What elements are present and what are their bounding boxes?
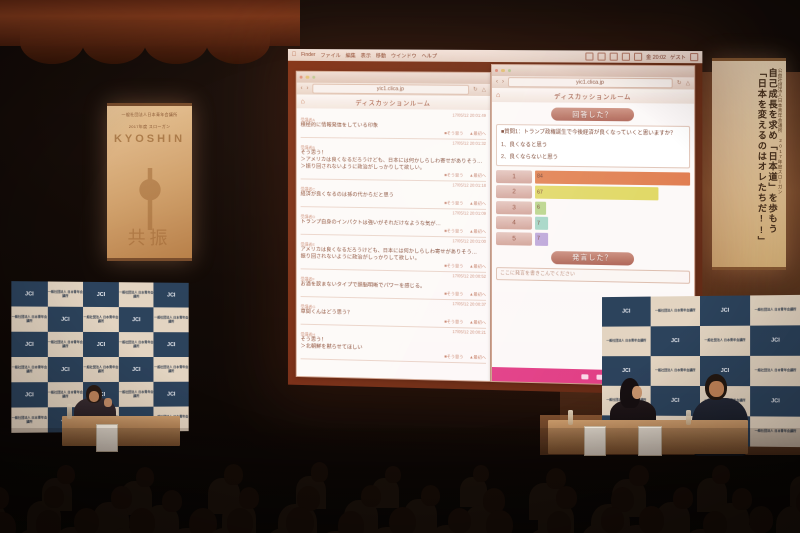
poll-bar-fill: 6	[535, 201, 546, 214]
banner-left-top: 一般社団法人日本青年会議所	[107, 106, 192, 118]
maximize-icon[interactable]	[312, 76, 315, 79]
discussion-post[interactable]: 17/05/12 20:01:18受講者C経済が良くなるのは孫の代からだと思う■…	[301, 179, 486, 209]
poll-bar-track: 84	[535, 170, 690, 185]
post-agree-button[interactable]: ■そう思う	[444, 200, 463, 206]
banner-right-org: 公益社団法人日本青年会議所 2017年度スローガン	[777, 68, 782, 260]
screenshot-root: 一般社団法人日本青年会議所 2017年度 スローガン KYOSHIN 共振 公益…	[0, 0, 800, 533]
poll-bar-row[interactable]: 267	[496, 185, 690, 201]
banner-right-line1: 自己成長を求め「日本道」を歩もう	[766, 68, 776, 260]
airplay-icon[interactable]	[622, 53, 630, 61]
speaker-face	[89, 391, 99, 402]
panelist-female-face	[632, 386, 642, 399]
audience-member-head	[239, 487, 259, 509]
post-reply-button[interactable]: ▲最初へ	[469, 319, 486, 325]
discussion-post[interactable]: 17/05/12 20:01:00受講者Eアメリカは良くなるだろうけども、日本に…	[301, 235, 486, 273]
audience-member-head	[483, 488, 505, 512]
post-agree-button[interactable]: ■そう思う	[444, 354, 463, 360]
poll-bar-value: 7	[535, 220, 540, 226]
jci-logo-tile: JCI	[154, 282, 189, 307]
poll-bar-label: 1	[496, 170, 532, 183]
jci-text-tile: 一般社団法人 日本青年会議所	[651, 356, 700, 386]
water-bottle	[686, 410, 691, 425]
discussion-list[interactable]: 17/05/12 20:01:49受講者A積極的に情報発信をしている印象■そう思…	[297, 108, 490, 381]
banner-left-emblem	[125, 168, 175, 230]
audience-member-head	[338, 511, 364, 533]
camera-icon[interactable]	[581, 374, 588, 379]
back-icon[interactable]: ‹	[496, 79, 498, 85]
audience	[0, 428, 800, 533]
post-agree-button[interactable]: ■そう思う	[444, 131, 463, 137]
battery-icon[interactable]	[597, 53, 605, 61]
banner-right-line2: 「日本を変えるのはオレたちだ!!」	[756, 68, 766, 260]
audience-member-head	[311, 462, 328, 481]
poll-bar-label: 2	[496, 185, 532, 199]
poll-option-2[interactable]: 2、良くならないと思う	[501, 153, 685, 163]
poll-bar-value: 6	[535, 205, 540, 211]
audience-member-head	[673, 487, 693, 509]
audience-member-head	[111, 486, 132, 509]
audience-member-head	[629, 465, 649, 487]
discussion-post[interactable]: 17/05/12 20:01:32受講者Bそう思う！＞アメリカは良くなるだろうけ…	[301, 138, 486, 182]
jci-logo-tile: JCI	[750, 386, 800, 417]
post-agree-button[interactable]: ■そう思う	[444, 263, 463, 269]
menubar-item-go[interactable]: 移動	[376, 52, 386, 59]
jci-text-tile: 一般社団法人 日本青年会議所	[750, 356, 800, 386]
poll-bar-label: 5	[496, 232, 532, 246]
audience-member-head	[639, 506, 665, 533]
jci-logo-tile: JCI	[11, 382, 47, 407]
post-agree-button[interactable]: ■そう思う	[444, 291, 463, 297]
minimize-icon[interactable]	[306, 76, 309, 79]
close-icon[interactable]	[495, 69, 498, 72]
answered-pill[interactable]: 回答した？	[551, 108, 634, 122]
jci-text-tile: 一般社団法人 日本青年会議所	[119, 332, 154, 357]
menubar-item-view[interactable]: 表示	[361, 52, 371, 59]
jci-text-tile: 一般社団法人 日本青年会議所	[750, 295, 800, 326]
jci-text-tile: 一般社団法人 日本青年会議所	[11, 306, 47, 331]
audience-member-head	[712, 465, 730, 485]
jci-logo-tile: JCI	[154, 382, 189, 407]
audience-member-head	[361, 485, 381, 507]
poll-bar-fill: 7	[535, 217, 548, 230]
jci-logo-tile: JCI	[119, 307, 154, 332]
input-source-icon[interactable]	[634, 53, 642, 61]
jci-logo-tile: JCI	[11, 281, 47, 307]
menubar-item-finder[interactable]: Finder	[301, 52, 315, 58]
audience-member-head	[473, 465, 489, 482]
poll-bar-value: 7	[535, 236, 540, 242]
close-icon[interactable]	[300, 75, 303, 78]
poll-option-1[interactable]: 1、良くなると思う	[501, 141, 685, 151]
menubar-item-help[interactable]: ヘルプ	[422, 52, 437, 59]
post-reply-button[interactable]: ▲最初へ	[469, 173, 486, 179]
forward-icon[interactable]: ›	[502, 79, 504, 85]
jci-logo-tile: JCI	[119, 357, 154, 382]
reload-icon[interactable]: ↻	[677, 80, 682, 86]
jci-logo-tile: JCI	[700, 295, 750, 326]
audience-member-head	[601, 507, 624, 533]
maximize-icon[interactable]	[508, 69, 511, 72]
poll-bar-label: 4	[496, 216, 532, 230]
post-agree-button[interactable]: ■そう思う	[444, 172, 463, 178]
water-bottle	[67, 404, 72, 419]
right-page-title: ディスカッションルーム	[554, 91, 631, 101]
discussion-post[interactable]: 17/05/12 20:00:21受講者Hそう思う！＞北朝鮮を黙らせてほしい■そ…	[301, 325, 486, 364]
jci-logo-tile: JCI	[47, 307, 83, 332]
discussion-post[interactable]: 17/05/12 20:00:52受講者Fお酒を飲まないタイプで頭脳明晰でパワー…	[301, 269, 486, 301]
speaker-hand	[104, 398, 112, 407]
audience-member-head	[389, 507, 416, 533]
jci-text-tile: 一般社団法人 日本青年会議所	[83, 307, 118, 332]
wifi-icon[interactable]	[609, 53, 617, 61]
post-text: そう思う！＞アメリカは良くなるだろうけども、日本には何かしらしわ寄せがありそう……	[301, 150, 486, 173]
poll-bar-fill: 7	[535, 232, 548, 245]
audience-member-head	[421, 485, 440, 506]
left-page-title: ディスカッションルーム	[355, 97, 430, 107]
poll-bar-row[interactable]: 47	[496, 216, 690, 232]
poll-bar-track: 7	[535, 217, 690, 233]
audience-member-head	[227, 508, 253, 533]
audience-member-head	[136, 467, 154, 487]
menubar-clock[interactable]: 金 20:02	[646, 53, 666, 60]
audience-member-head	[224, 464, 243, 485]
jci-text-tile: 一般社団法人 日本青年会議所	[47, 332, 83, 357]
post-reply-button[interactable]: ▲最初へ	[469, 131, 486, 137]
audience-member-head	[547, 511, 571, 533]
jci-logo-tile: JCI	[651, 326, 700, 356]
address-bar-right[interactable]: yic1.clica.jp	[508, 77, 673, 88]
banner-left: 一般社団法人日本青年会議所 2017年度 スローガン KYOSHIN 共振	[107, 103, 192, 261]
audience-member-head	[703, 511, 727, 533]
jci-logo-tile: JCI	[154, 332, 189, 357]
menubar-user[interactable]: ゲスト	[670, 53, 686, 60]
jci-text-tile: 一般社団法人 日本青年会議所	[83, 357, 118, 382]
water-bottle	[568, 410, 573, 425]
forward-icon[interactable]: ›	[306, 86, 308, 92]
discussion-post[interactable]: 17/05/12 20:00:37受講者G草間くんはどう思う？■そう思う▲最初へ	[301, 297, 486, 329]
jci-text-tile: 一般社団法人 日本青年会議所	[154, 307, 189, 332]
address-bar-left[interactable]: yic1.clica.jp	[312, 84, 469, 95]
ceiling-drape	[0, 0, 300, 46]
audience-member-head	[749, 506, 773, 533]
menubar-item-edit[interactable]: 編集	[346, 52, 356, 59]
poll-question: ■質問1：トランプ政権誕生で今後経済が良くなっていくと思いますか？	[501, 129, 685, 138]
post-agree-button[interactable]: ■そう思う	[444, 319, 463, 325]
banner-left-romaji: KYOSHIN	[107, 133, 192, 145]
poll-bar-track: 7	[535, 232, 690, 248]
jci-text-tile: 一般社団法人 日本青年会議所	[602, 326, 651, 356]
poll-results-chart: 184267364757	[496, 170, 690, 248]
audience-member-head	[162, 490, 182, 512]
audience-member-head	[486, 510, 512, 533]
jci-logo-tile: JCI	[602, 297, 651, 327]
post-reply-button[interactable]: ▲最初へ	[469, 354, 486, 360]
discussion-post[interactable]: 17/05/12 20:01:49受講者A積極的に情報発信をしている印象■そう思…	[301, 110, 486, 140]
post-reply-button[interactable]: ▲最初へ	[469, 292, 486, 298]
jci-text-tile: 一般社団法人 日本青年会議所	[47, 281, 83, 306]
poll-bar-track: 6	[535, 201, 690, 216]
post-agree-button[interactable]: ■そう思う	[444, 228, 463, 234]
banner-left-kanji: 共振	[107, 224, 192, 250]
browser-window-left[interactable]: ‹ › yic1.clica.jp ↻ △ ⌂ ディスカッションルーム 17/0…	[296, 71, 491, 382]
poll-bar-value: 84	[535, 174, 543, 180]
macos-menubar:  Finder ファイル 編集 表示 移動 ウインドウ ヘルプ 金 20:02…	[288, 49, 702, 63]
audience-member-head	[44, 486, 64, 508]
discussion-post[interactable]: 17/05/12 20:01:09受講者Dトランプ自身のインパクトは強いがそれだ…	[301, 207, 486, 238]
audience-member-head	[556, 486, 577, 509]
banner-left-year: 2017年度 スローガン	[107, 118, 192, 130]
poll-bar-fill: 67	[535, 186, 658, 201]
back-icon[interactable]: ‹	[301, 86, 303, 92]
home-icon[interactable]: ⌂	[496, 92, 500, 99]
post-reply-button[interactable]: ▲最初へ	[469, 229, 486, 235]
poll-bar-fill: 84	[535, 170, 690, 185]
share-icon[interactable]: △	[482, 87, 486, 93]
audience-member-head	[732, 488, 752, 510]
search-icon[interactable]	[690, 53, 698, 61]
menubar-item-file[interactable]: ファイル	[320, 52, 340, 59]
jci-text-tile: 一般社団法人 日本青年会議所	[154, 357, 189, 382]
do-not-disturb-icon[interactable]	[585, 52, 593, 60]
audience-member-head	[74, 508, 99, 533]
share-icon[interactable]: △	[686, 80, 690, 86]
jci-text-tile: 一般社団法人 日本青年会議所	[119, 382, 154, 407]
jci-logo-tile: JCI	[83, 332, 118, 357]
reload-icon[interactable]: ↻	[473, 87, 478, 93]
banner-right-slogan: 公益社団法人日本青年会議所 2017年度スローガン 自己成長を求め「日本道」を歩…	[712, 58, 786, 270]
jci-logo-tile: JCI	[11, 332, 47, 357]
jci-text-tile: 一般社団法人 日本青年会議所	[700, 326, 750, 356]
poll-bar-value: 67	[535, 189, 543, 195]
minimize-icon[interactable]	[501, 69, 504, 72]
post-reply-button[interactable]: ▲最初へ	[469, 201, 486, 207]
jci-logo-tile: JCI	[83, 282, 118, 307]
question-card: ■質問1：トランプ政権誕生で今後経済が良くなっていくと思いますか？ 1、良くなる…	[496, 124, 690, 168]
jci-text-tile: 一般社団法人 日本青年会議所	[119, 282, 154, 307]
jci-text-tile: 一般社団法人 日本青年会議所	[651, 296, 700, 326]
poll-bar-row[interactable]: 57	[496, 232, 690, 248]
audience-member-head	[448, 508, 471, 533]
poll-bar-label: 3	[496, 201, 532, 215]
jci-logo-tile: JCI	[750, 325, 800, 356]
menubar-item-window[interactable]: ウインドウ	[391, 52, 417, 59]
poll-bar-track: 67	[535, 186, 690, 201]
post-reply-button[interactable]: ▲最初へ	[469, 264, 486, 270]
home-icon[interactable]: ⌂	[301, 98, 305, 105]
audience-member-head	[57, 465, 75, 484]
jci-logo-tile: JCI	[651, 386, 700, 416]
audience-member-head	[385, 466, 401, 483]
jci-logo-tile: JCI	[47, 357, 83, 382]
audience-member-head	[129, 508, 155, 533]
poll-bar-row[interactable]: 184	[496, 170, 690, 186]
speak-pill[interactable]: 発言した？	[551, 251, 634, 266]
comment-input[interactable]: ここに発言を書きこんでください	[496, 267, 690, 284]
panelist-male-face	[709, 381, 724, 397]
poll-bar-row[interactable]: 36	[496, 201, 690, 217]
jci-text-tile: 一般社団法人 日本青年会議所	[11, 357, 47, 382]
apple-icon[interactable]: 	[292, 52, 296, 58]
